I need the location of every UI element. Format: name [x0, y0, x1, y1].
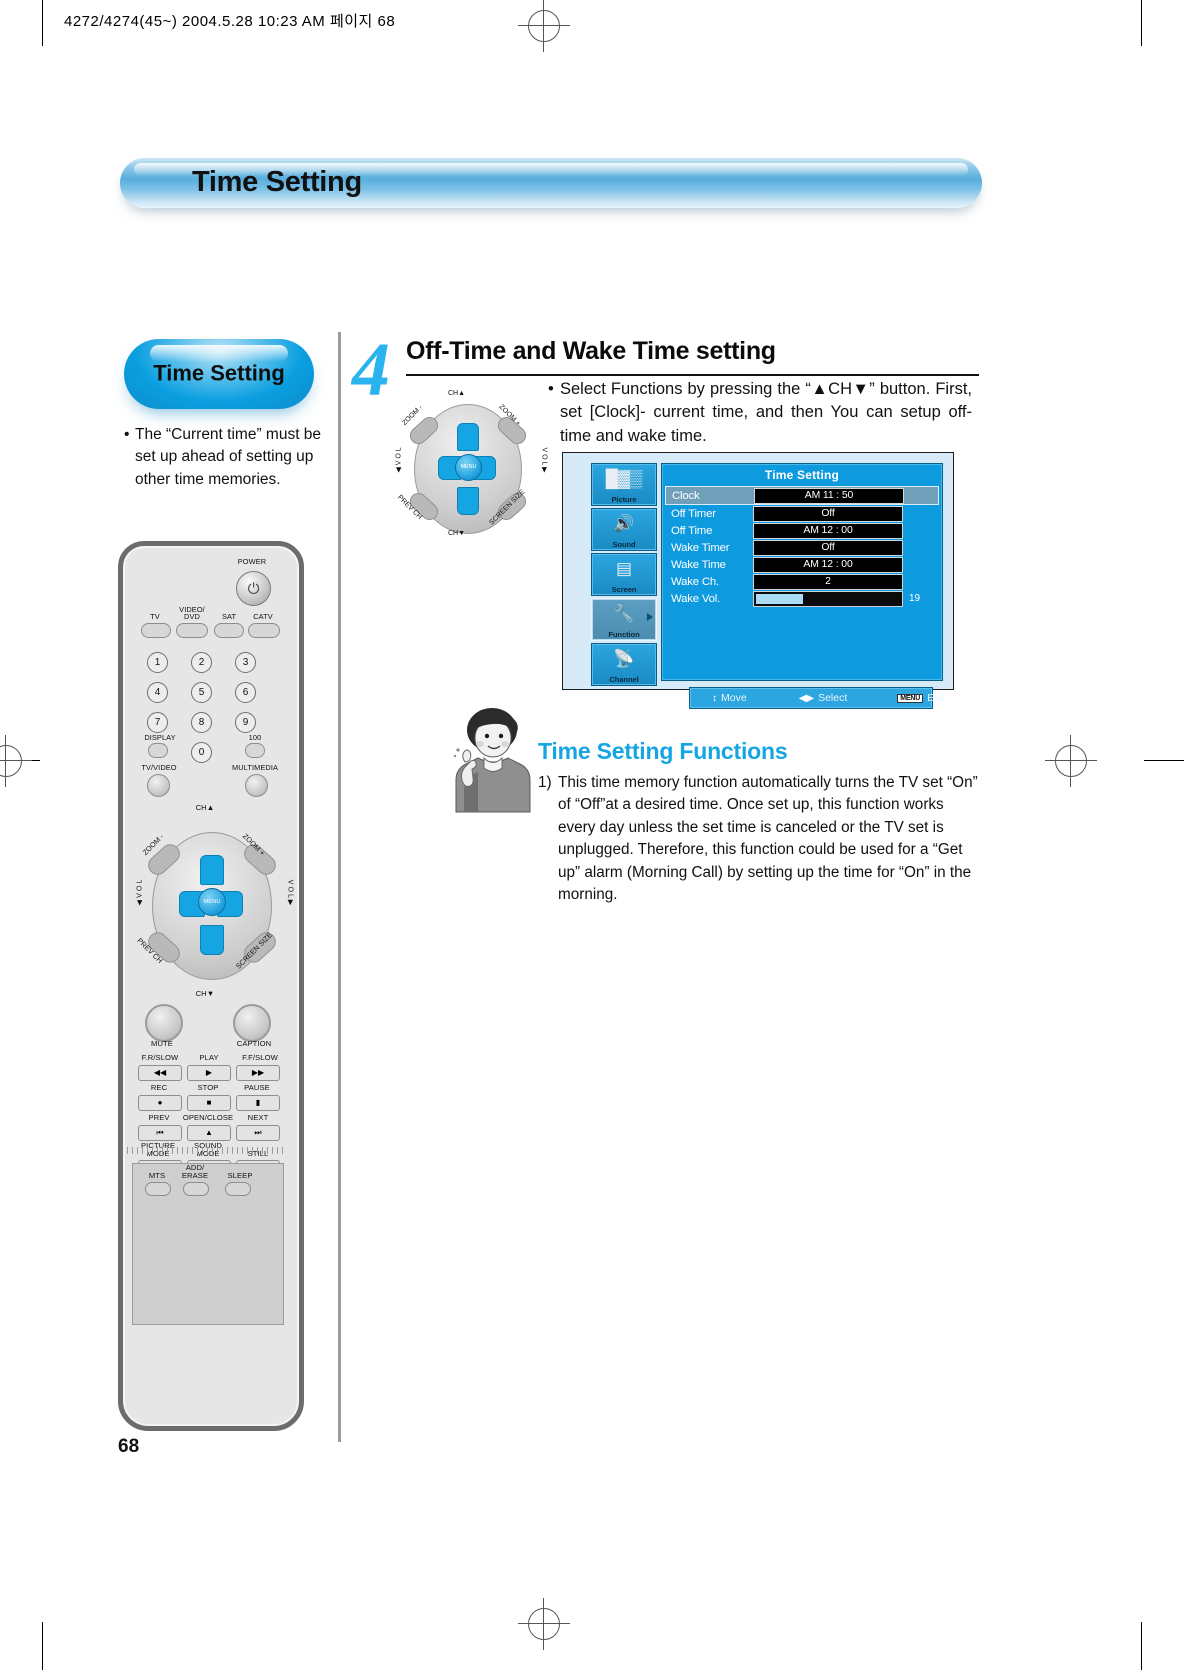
osd-footer-select: ◀▶ Select — [799, 692, 848, 704]
osd-icon-sound-label: Sound — [592, 540, 656, 549]
osd-inner: █▓▒ Picture 🔊 Sound ▤ Screen 🔧 Function — [591, 463, 943, 681]
crop-mark-top-right-v — [1141, 0, 1142, 46]
osd-panel: Time Setting Clock AM 11 : 50 Off Timer … — [661, 463, 943, 681]
remote-power-label: POWER — [219, 558, 285, 566]
remote-dpad: MENU — [179, 855, 243, 955]
diagram-dpad: MENU — [438, 423, 496, 515]
remote-mts-button[interactable] — [145, 1182, 171, 1196]
section-rule — [406, 374, 979, 376]
osd-icon-function-label: Function — [592, 630, 656, 639]
remote-key-9[interactable]: 9 — [235, 712, 256, 733]
volume-slider-fill — [756, 594, 803, 604]
osd-row-off-time-value[interactable]: AM 12 : 00 — [753, 523, 903, 539]
prepress-slug: 4272/4274(45~) 2004.5.28 10:23 AM 페이지 68 — [64, 10, 395, 31]
osd-icon-screen[interactable]: ▤ Screen — [591, 553, 657, 596]
diagram-ch-up-label: CH▲ — [448, 390, 465, 397]
osd-row-wake-timer-label: Wake Timer — [667, 542, 753, 554]
registration-mark-right — [1055, 745, 1087, 777]
remote-mute-button[interactable] — [145, 1004, 183, 1042]
diagram-dpad-down[interactable] — [457, 487, 479, 515]
menu-key-icon: MENU — [897, 694, 923, 703]
remote-power-button[interactable]: ⏻ — [236, 571, 271, 606]
osd-icon-channel[interactable]: 📡 Channel — [591, 643, 657, 686]
remote-rec-button[interactable]: ● — [138, 1095, 182, 1111]
osd-row-clock-label: Clock — [668, 490, 754, 502]
section-title: Off-Time and Wake Time setting — [406, 337, 776, 366]
osd-footer-select-label: Select — [818, 692, 847, 704]
diagram-vol-left-label: ◀ V O L — [395, 447, 403, 472]
crop-mark-bottom-right-v — [1141, 1622, 1142, 1670]
osd-screenshot: █▓▒ Picture 🔊 Sound ▤ Screen 🔧 Function — [562, 452, 954, 690]
remote-fr-slow-button[interactable]: ◀◀ — [138, 1065, 182, 1081]
remote-key-4[interactable]: 4 — [147, 682, 168, 703]
diagram-ch-down-label: CH▼ — [448, 530, 465, 537]
diagram-vol-right-label: V O L ▶ — [540, 448, 548, 473]
remote-ch-down-label: CH▼ — [175, 990, 235, 998]
osd-icon-channel-label: Channel — [592, 675, 656, 684]
up-down-arrow-icon: ↕ — [712, 693, 717, 704]
remote-key-3[interactable]: 3 — [235, 652, 256, 673]
remote-add-erase-label-2: ERASE — [173, 1172, 217, 1180]
osd-row-off-time-label: Off Time — [667, 525, 753, 537]
remote-multimedia-label: MULTIMEDIA — [219, 764, 291, 772]
instruction-text: Select Functions by pressing the “▲CH▼” … — [548, 378, 972, 448]
crop-mark-top-left-v — [42, 0, 43, 46]
remote-stop-label: STOP — [185, 1084, 231, 1092]
osd-row-wake-time[interactable]: Wake Time AM 12 : 00 — [667, 556, 937, 573]
diagram-menu-button[interactable]: MENU — [455, 454, 482, 481]
remote-dpad-down[interactable] — [200, 925, 224, 955]
osd-icon-sound[interactable]: 🔊 Sound — [591, 508, 657, 551]
sidebar-heading-pill: Time Setting — [124, 339, 314, 409]
remote-key-7[interactable]: 7 — [147, 712, 168, 733]
osd-row-wake-vol[interactable]: Wake Vol. 19 — [667, 590, 937, 607]
sidebar-note: • The “Current time” must be set up ahea… — [124, 424, 334, 491]
functions-item-marker: 1) — [538, 772, 552, 794]
remote-prev-button[interactable]: ⏮ — [138, 1125, 182, 1141]
osd-footer-exit-label: Exit — [927, 692, 945, 704]
osd-row-wake-time-label: Wake Time — [667, 559, 753, 571]
step-number: 4 — [352, 332, 390, 408]
remote-video-dvd-button[interactable] — [176, 623, 208, 638]
osd-icon-column: █▓▒ Picture 🔊 Sound ▤ Screen 🔧 Function — [591, 463, 655, 688]
osd-row-clock-value[interactable]: AM 11 : 50 — [754, 488, 904, 504]
remote-caption-button[interactable] — [233, 1004, 271, 1042]
chevron-right-icon — [647, 613, 653, 621]
registration-mark-bottom — [528, 1608, 560, 1640]
osd-footer-exit: MENU Exit — [897, 692, 944, 704]
osd-icon-picture[interactable]: █▓▒ Picture — [591, 463, 657, 506]
osd-footer-move-label: Move — [721, 692, 747, 704]
osd-row-wake-timer[interactable]: Wake Timer Off — [667, 539, 937, 556]
osd-row-off-timer-label: Off Timer — [667, 508, 753, 520]
osd-rows: Clock AM 11 : 50 Off Timer Off Off Time … — [667, 486, 937, 607]
remote-ff-slow-label: F.F/SLOW — [227, 1054, 293, 1062]
functions-item-text: This time memory function automatically … — [538, 772, 978, 907]
remote-tv-label: TV — [139, 613, 171, 621]
remote-pause-button[interactable]: ▮ — [236, 1095, 280, 1111]
remote-rec-label: REC — [136, 1084, 182, 1092]
registration-mark-top — [528, 10, 560, 42]
remote-100-button[interactable] — [245, 743, 265, 758]
remote-key-2[interactable]: 2 — [191, 652, 212, 673]
sidebar-note-text: The “Current time” must be set up ahead … — [124, 424, 334, 491]
page-title-banner: Time Setting — [120, 158, 982, 208]
osd-row-wake-vol-label: Wake Vol. — [667, 593, 753, 605]
osd-row-wake-ch-label: Wake Ch. — [667, 576, 753, 588]
osd-row-wake-ch[interactable]: Wake Ch. 2 — [667, 573, 937, 590]
column-divider — [338, 332, 341, 1442]
osd-row-off-timer-value[interactable]: Off — [753, 506, 903, 522]
remote-next-label: NEXT — [235, 1114, 281, 1122]
page-number: 68 — [118, 1436, 139, 1458]
power-icon: ⏻ — [248, 580, 260, 597]
crop-mark-bottom-left-v — [42, 1622, 43, 1670]
remote-multimedia-button[interactable] — [245, 774, 268, 797]
remote-key-6[interactable]: 6 — [235, 682, 256, 703]
remote-play-button[interactable]: ▶ — [187, 1065, 231, 1081]
remote-caption-label: CAPTION — [219, 1040, 289, 1048]
page-root: 4272/4274(45~) 2004.5.28 10:23 AM 페이지 68… — [0, 0, 1184, 1670]
functions-item: 1) This time memory function automatical… — [538, 772, 978, 907]
osd-row-wake-timer-value[interactable]: Off — [753, 540, 903, 556]
remote-key-1[interactable]: 1 — [147, 652, 168, 673]
remote-sat-button[interactable] — [214, 623, 244, 638]
remote-mute-label: MUTE — [131, 1040, 193, 1048]
remote-100-label: 100 — [231, 734, 279, 742]
remote-vol-right-label: V O L ▶ — [286, 880, 295, 906]
remote-key-5[interactable]: 5 — [191, 682, 212, 703]
osd-row-wake-ch-value[interactable]: 2 — [753, 574, 903, 590]
remote-next-button[interactable]: ⏭ — [236, 1125, 280, 1141]
mascot-illustration — [448, 704, 540, 814]
remote-tv-video-label: TV/VIDEO — [125, 764, 193, 772]
remote-catv-button[interactable] — [248, 623, 280, 638]
screen-icon: ▤ — [592, 557, 656, 581]
nav-cluster-diagram: CH▲ ZOOM - ZOOM + ◀ V O L V O L ▶ PREV C… — [392, 390, 542, 545]
osd-row-wake-vol-value: 19 — [903, 593, 920, 604]
remote-sat-label: SAT — [213, 613, 245, 621]
remote-key-0[interactable]: 0 — [191, 742, 212, 763]
remote-seam — [127, 1147, 285, 1154]
osd-row-off-time[interactable]: Off Time AM 12 : 00 — [667, 522, 937, 539]
remote-display-button[interactable] — [148, 743, 168, 758]
remote-menu-button[interactable]: MENU — [198, 888, 226, 916]
osd-footer-bar: ↕ Move ◀▶ Select MENU Exit — [689, 687, 933, 709]
remote-nav-cluster: ZOOM - ZOOM + ◀ V O L V O L ▶ PREV CH SC… — [132, 822, 290, 992]
remote-sleep-button[interactable] — [225, 1182, 251, 1196]
instruction-bullet: • — [548, 378, 554, 401]
remote-vol-left-label: ◀ V O L — [134, 880, 143, 906]
remote-display-label: DISPLAY — [129, 734, 191, 742]
osd-footer-move: ↕ Move — [712, 692, 747, 704]
osd-panel-title: Time Setting — [662, 468, 942, 482]
registration-mark-left — [0, 745, 22, 777]
remote-tv-video-button[interactable] — [147, 774, 170, 797]
sound-icon: 🔊 — [592, 512, 656, 536]
remote-open-close-label: OPEN/CLOSE — [177, 1114, 239, 1122]
remote-add-erase-button[interactable] — [183, 1182, 209, 1196]
remote-mts-label: MTS — [137, 1172, 177, 1180]
sidebar-heading-label: Time Setting — [124, 360, 314, 386]
osd-icon-screen-label: Screen — [592, 585, 656, 594]
remote-catv-label: CATV — [245, 613, 281, 621]
remote-ch-up-label: CH▲ — [175, 804, 235, 812]
osd-row-clock[interactable]: Clock AM 11 : 50 — [665, 486, 939, 505]
page-title: Time Setting — [192, 166, 362, 199]
remote-sleep-label: SLEEP — [217, 1172, 263, 1180]
remote-key-8[interactable]: 8 — [191, 712, 212, 733]
osd-row-off-timer[interactable]: Off Timer Off — [667, 505, 937, 522]
channel-antenna-icon: 📡 — [592, 647, 656, 671]
remote-open-close-button[interactable]: ▲ — [187, 1125, 231, 1141]
crop-mark-right-h — [1144, 760, 1184, 761]
functions-title: Time Setting Functions — [538, 738, 787, 765]
osd-icon-picture-label: Picture — [592, 495, 656, 504]
picture-icon: █▓▒ — [592, 467, 656, 491]
left-right-arrow-icon: ◀▶ — [799, 693, 814, 704]
remote-stop-button[interactable]: ■ — [187, 1095, 231, 1111]
remote-pause-label: PAUSE — [233, 1084, 281, 1092]
diagram-dpad-up[interactable] — [457, 423, 479, 451]
osd-icon-function[interactable]: 🔧 Function — [591, 598, 657, 641]
remote-control-illustration: POWER ⏻ TV VIDEO/ DVD SAT CATV 1 2 3 4 5… — [118, 541, 304, 1431]
section-instruction: • Select Functions by pressing the “▲CH▼… — [548, 378, 972, 448]
osd-row-wake-vol-slider[interactable] — [753, 591, 903, 607]
remote-dvd-label: DVD — [172, 613, 212, 621]
remote-tv-button[interactable] — [141, 623, 171, 638]
remote-ff-slow-button[interactable]: ▶▶ — [236, 1065, 280, 1081]
remote-dpad-up[interactable] — [200, 855, 224, 885]
sidebar-note-bullet: • — [124, 424, 129, 446]
osd-row-wake-time-value[interactable]: AM 12 : 00 — [753, 557, 903, 573]
